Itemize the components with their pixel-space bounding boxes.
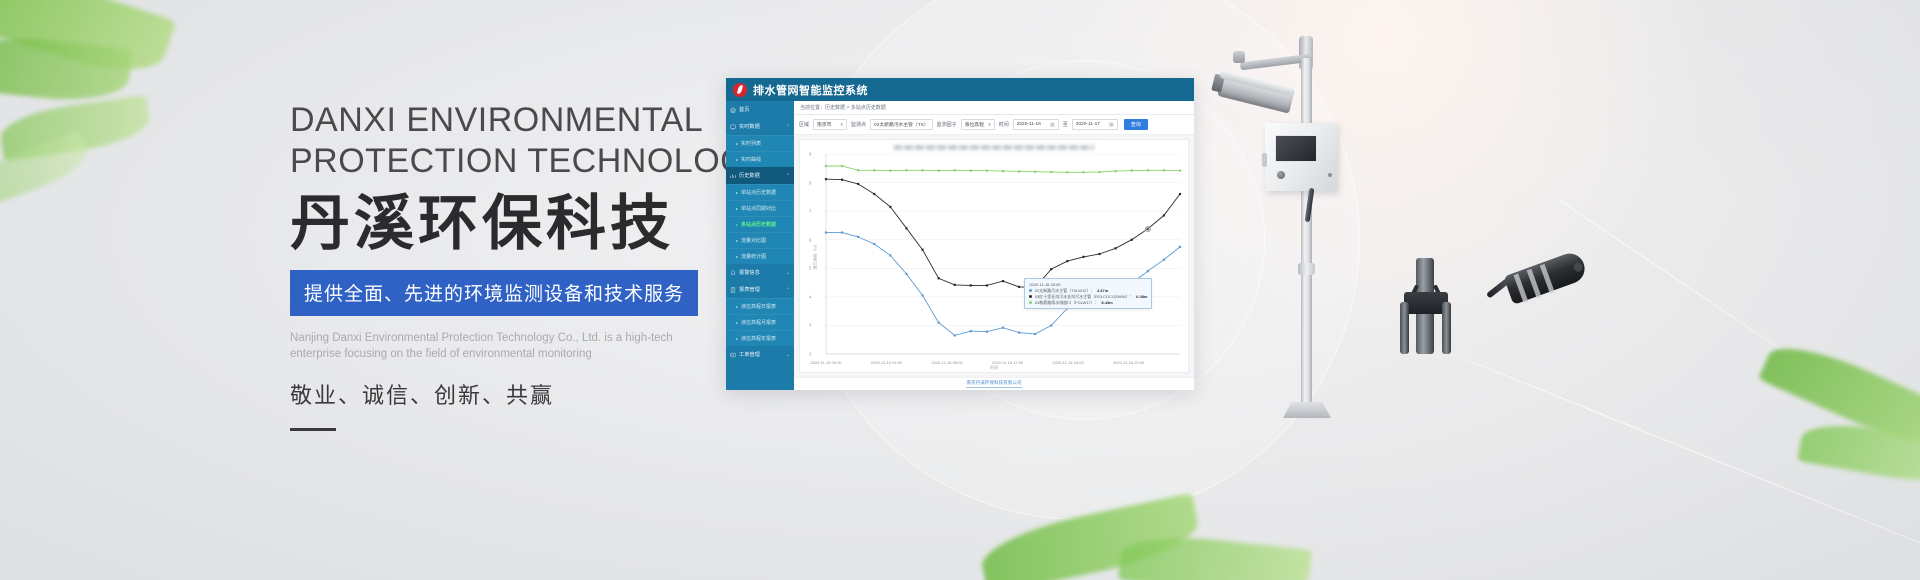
chart-data-point: [841, 231, 843, 233]
camera-mount-bracket: [1233, 51, 1245, 63]
sidebar-item-flow-statistics-chart[interactable]: ▸ 流量统计图: [726, 248, 794, 264]
chevron-right-icon: ▸: [736, 336, 738, 341]
sidebar-label: 流量统计图: [741, 253, 766, 260]
sidebar-item-single-station-compare[interactable]: ▸ 单站点同期对比: [726, 200, 794, 216]
level-sensor-band-3: [1540, 264, 1555, 294]
chart-data-point: [921, 249, 923, 251]
chart-data-point: [1098, 171, 1100, 173]
probe-electrode-right: [1442, 302, 1451, 354]
chevron-down-icon: ⌄: [786, 352, 790, 358]
tooltip-series-dot: [1029, 301, 1032, 304]
chart-data-point: [1050, 171, 1052, 173]
search-button[interactable]: 查询: [1124, 119, 1148, 130]
sidebar-label: 工单管理: [739, 351, 760, 358]
region-value: 南京市: [817, 121, 831, 128]
monitoring-dashboard-window: 排水管网智能监控系统 首页 实时数据 ⌃ ▸ 实时列表 ▸ 实时曲线: [726, 78, 1194, 390]
chart-data-point: [970, 330, 972, 332]
chart-data-point: [873, 243, 875, 245]
chart-data-point: [1179, 193, 1181, 195]
line-chart[interactable]: 液位高程（m） 时间 987654322020-11-16 00:002020-…: [800, 140, 1188, 372]
hero-slogan-banner: 提供全面、先进的环境监测设备和技术服务: [290, 270, 698, 316]
chart-data-point: [1018, 331, 1020, 333]
chart-data-point: [1034, 333, 1036, 335]
chart-data-point: [873, 169, 875, 171]
chart-data-point: [841, 179, 843, 181]
chevron-down-icon: ▾: [988, 122, 991, 128]
chart-data-point: [1002, 170, 1004, 172]
tooltip-row: 04和燕路雨水排放口（FGLW17）：8.43m: [1029, 300, 1147, 306]
dashboard-title: 排水管网智能监控系统: [753, 82, 868, 98]
chevron-right-icon: ▸: [736, 222, 738, 227]
chart-data-point: [1034, 171, 1036, 173]
level-sensor-band-2: [1527, 269, 1542, 299]
chart-data-point: [1082, 171, 1084, 173]
sidebar-label: 液位高程月报表: [741, 319, 776, 326]
sidebar-item-alarm-info[interactable]: 报警信息 ⌄: [726, 264, 794, 281]
sidebar-item-history-data[interactable]: 历史数据 ⌃: [726, 167, 794, 184]
chart-data-point: [1018, 286, 1020, 288]
station-value: 02太新路污水主管（TX）: [874, 121, 929, 128]
chevron-right-icon: ▸: [736, 304, 738, 309]
dashboard-body: 首页 实时数据 ⌃ ▸ 实时列表 ▸ 实时曲线 历史数据 ⌃ ▸: [726, 101, 1194, 390]
chevron-down-icon: ⌄: [786, 270, 790, 276]
tooltip-series-dot: [1029, 289, 1032, 292]
chevron-right-icon: ▸: [736, 157, 738, 162]
dashboard-main-pane: 当前位置：历史数据 > 多站点历史数据 区域 南京市 ▾ 监测点 02太新路污水…: [794, 101, 1194, 390]
chart-data-point: [1147, 270, 1149, 272]
chart-data-point: [954, 169, 956, 171]
region-select[interactable]: 南京市 ▾: [813, 119, 847, 130]
chart-data-point: [825, 165, 827, 167]
chart-svg: [800, 140, 1188, 372]
chart-data-point: [905, 273, 907, 275]
chart-data-point: [970, 169, 972, 171]
chevron-right-icon: ▸: [736, 254, 738, 259]
cabinet-lock-icon: [1328, 173, 1332, 177]
chart-data-point: [938, 321, 940, 323]
chart-data-point: [825, 231, 827, 233]
level-sensor-band-1: [1513, 273, 1528, 303]
chevron-down-icon: ▾: [841, 122, 844, 128]
sidebar-item-report-management[interactable]: 报表管理 ⌃: [726, 281, 794, 298]
date-end-value: 2020-11-17: [1076, 122, 1100, 127]
chart-data-point: [1018, 170, 1020, 172]
chart-data-point: [825, 178, 827, 180]
level-sensor-body: [1503, 249, 1588, 305]
sidebar-item-flow-comparison-chart[interactable]: ▸ 流量对比图: [726, 232, 794, 248]
chart-data-point: [986, 331, 988, 333]
multi-parameter-probe: [1398, 258, 1454, 366]
sidebar-item-realtime-data[interactable]: 实时数据 ⌃: [726, 118, 794, 135]
level-sensor: [1486, 248, 1592, 321]
sidebar-label: 历史数据: [739, 172, 760, 179]
chart-x-tick: 2020-11-16 16:00: [1052, 360, 1083, 365]
chart-data-point: [921, 294, 923, 296]
chart-data-point: [954, 334, 956, 336]
chart-x-tick: 2020-11-16 12:00: [992, 360, 1023, 365]
chart-data-point: [938, 169, 940, 171]
chart-data-point: [1163, 214, 1165, 216]
chart-data-point: [857, 169, 859, 171]
chart-data-point: [938, 277, 940, 279]
calendar-icon: ▦: [1109, 122, 1114, 128]
chevron-up-icon: ⌃: [786, 124, 790, 130]
chevron-up-icon: ⌃: [786, 173, 790, 179]
chart-hover-marker: [1145, 226, 1151, 232]
chart-data-point: [1179, 246, 1181, 248]
filter-bar: 区域 南京市 ▾ 监测点 02太新路污水主管（TX） 监测因子 液位高程 ▾ 时…: [794, 115, 1194, 135]
region-label: 区域: [799, 121, 809, 128]
chart-data-point: [1131, 239, 1133, 241]
pole-joint: [1298, 263, 1315, 275]
sidebar-item-realtime-list[interactable]: ▸ 实时列表: [726, 135, 794, 151]
chart-data-point: [1002, 327, 1004, 329]
cabinet-hinge: [1262, 153, 1267, 167]
chart-series-line: [826, 179, 1180, 287]
sidebar-item-level-daily-report[interactable]: ▸ 液位高程日报表: [726, 298, 794, 314]
chart-data-point: [873, 193, 875, 195]
chart-data-point: [1002, 280, 1004, 282]
chart-tooltip: 2020-11-16 20:0002太新路污水主管（TXLW12）：4.47m0…: [1024, 278, 1152, 309]
chart-data-point: [889, 206, 891, 208]
factor-value: 液位高程: [965, 121, 984, 128]
dashboard-footer: 南京丹溪环保科技有限公司: [794, 377, 1194, 390]
pole-base-plate: [1283, 402, 1331, 418]
chart-data-point: [889, 169, 891, 171]
sidebar-label: 单站点历史数据: [741, 189, 776, 196]
chart-data-point: [1163, 259, 1165, 261]
chevron-up-icon: ⌃: [786, 287, 790, 293]
chart-card: 液位高程（m） 时间 987654322020-11-16 00:002020-…: [799, 139, 1189, 373]
cabinet-knob: [1277, 171, 1285, 179]
sidebar-label: 报警信息: [739, 269, 760, 276]
chart-data-point: [986, 284, 988, 286]
chart-data-point: [1115, 170, 1117, 172]
chart-data-point: [1082, 256, 1084, 258]
sidebar-item-level-monthly-report[interactable]: ▸ 液位高程月报表: [726, 314, 794, 330]
sidebar-label: 单站点同期对比: [741, 205, 776, 212]
chart-data-point: [1066, 171, 1068, 173]
factor-select[interactable]: 液位高程 ▾: [961, 119, 995, 130]
chart-data-point: [841, 165, 843, 167]
home-icon: [730, 107, 736, 113]
chart-data-point: [1147, 169, 1149, 171]
chart-data-point: [970, 284, 972, 286]
tooltip-series-name: 04和燕路雨水排放口（FGLW17）：: [1035, 300, 1099, 306]
probe-electrode-left: [1400, 302, 1409, 354]
bell-icon: [730, 270, 736, 276]
chart-x-tick: 2020-11-16 08:00: [931, 360, 962, 365]
chart-data-point: [921, 169, 923, 171]
dashboard-header: 排水管网智能监控系统: [726, 78, 1194, 101]
chart-data-point: [1098, 253, 1100, 255]
sidebar-label: 多站点历史数据: [741, 221, 776, 228]
chart-data-point: [1115, 247, 1117, 249]
chart-data-point: [1131, 169, 1133, 171]
chart-data-point: [857, 236, 859, 238]
chart-data-point: [1179, 169, 1181, 171]
chart-data-point: [986, 169, 988, 171]
company-logo-icon: [733, 83, 747, 97]
chart-data-point: [857, 183, 859, 185]
chart-icon: [730, 173, 736, 179]
sidebar-label: 报表管理: [739, 286, 760, 293]
cabinet-display-screen: [1275, 135, 1317, 162]
station-label: 监测点: [851, 121, 866, 128]
tooltip-series-value: 8.43m: [1101, 300, 1112, 306]
sidebar-label: 流量对比图: [741, 237, 766, 244]
chevron-right-icon: ▸: [736, 190, 738, 195]
chevron-right-icon: ▸: [736, 206, 738, 211]
sidebar-label: 实时曲线: [741, 156, 761, 163]
station-select[interactable]: 02太新路污水主管（TX）: [870, 119, 933, 130]
chart-x-tick: 2020-11-16 20:00: [1113, 360, 1144, 365]
control-cabinet: [1265, 123, 1337, 191]
sidebar-item-single-station-history[interactable]: ▸ 单站点历史数据: [726, 184, 794, 200]
chart-data-point: [889, 254, 891, 256]
sidebar-item-home[interactable]: 首页: [726, 101, 794, 118]
chart-data-point: [1066, 260, 1068, 262]
tooltip-series-value: 6.38m: [1136, 294, 1147, 300]
level-sensor-tip: [1572, 261, 1584, 273]
sidebar-item-realtime-curve[interactable]: ▸ 实时曲线: [726, 151, 794, 167]
time-label: 时间: [999, 121, 1009, 128]
chart-data-point: [905, 169, 907, 171]
tooltip-series-dot: [1029, 295, 1032, 298]
footer-company-link[interactable]: 南京丹溪环保科技有限公司: [966, 380, 1021, 388]
sidebar-item-work-order-management[interactable]: 工单管理 ⌄: [726, 346, 794, 363]
chart-x-tick: 2020-11-16 04:00: [871, 360, 902, 365]
sidebar-label: 液位高程日报表: [741, 303, 776, 310]
sidebar-label: 实时列表: [741, 140, 761, 147]
chart-data-point: [1163, 169, 1165, 171]
chart-data-point: [1050, 324, 1052, 326]
breadcrumb: 当前位置：历史数据 > 多站点历史数据: [794, 101, 1194, 115]
equipment-pole: [1301, 58, 1312, 408]
chart-data-point: [1050, 268, 1052, 270]
date-end-input[interactable]: 2020-11-17 ▦: [1072, 119, 1118, 130]
chart-data-point: [954, 284, 956, 286]
chevron-right-icon: ▸: [736, 141, 738, 146]
chevron-right-icon: ▸: [736, 320, 738, 325]
ticket-icon: [730, 352, 736, 358]
hero-english-paragraph: Nanjing Danxi Environmental Protection T…: [290, 330, 690, 362]
calendar-icon: ▦: [1050, 122, 1055, 128]
sidebar-label: 首页: [739, 106, 749, 113]
factor-label: 监测因子: [937, 121, 957, 128]
date-separator: 至: [1063, 121, 1068, 128]
date-start-input[interactable]: 2020-11-16 ▦: [1013, 119, 1059, 130]
monitoring-equipment-photo: [1215, 18, 1635, 418]
dashboard-sidebar: 首页 实时数据 ⌃ ▸ 实时列表 ▸ 实时曲线 历史数据 ⌃ ▸: [726, 101, 794, 390]
monitor-icon: [730, 124, 736, 130]
sidebar-label: 液位高程年报表: [741, 335, 776, 342]
chart-data-point: [905, 227, 907, 229]
sidebar-label: 实时数据: [739, 123, 760, 130]
report-icon: [730, 287, 736, 293]
date-start-value: 2020-11-16: [1017, 122, 1041, 127]
sidebar-item-multi-station-history[interactable]: ▸ 多站点历史数据: [726, 216, 794, 232]
sidebar-item-level-yearly-report[interactable]: ▸ 液位高程年报表: [726, 330, 794, 346]
chart-x-tick: 2020-11-16 00:00: [810, 360, 841, 365]
chevron-right-icon: ▸: [736, 238, 738, 243]
hero-underline-rule: [290, 428, 336, 431]
